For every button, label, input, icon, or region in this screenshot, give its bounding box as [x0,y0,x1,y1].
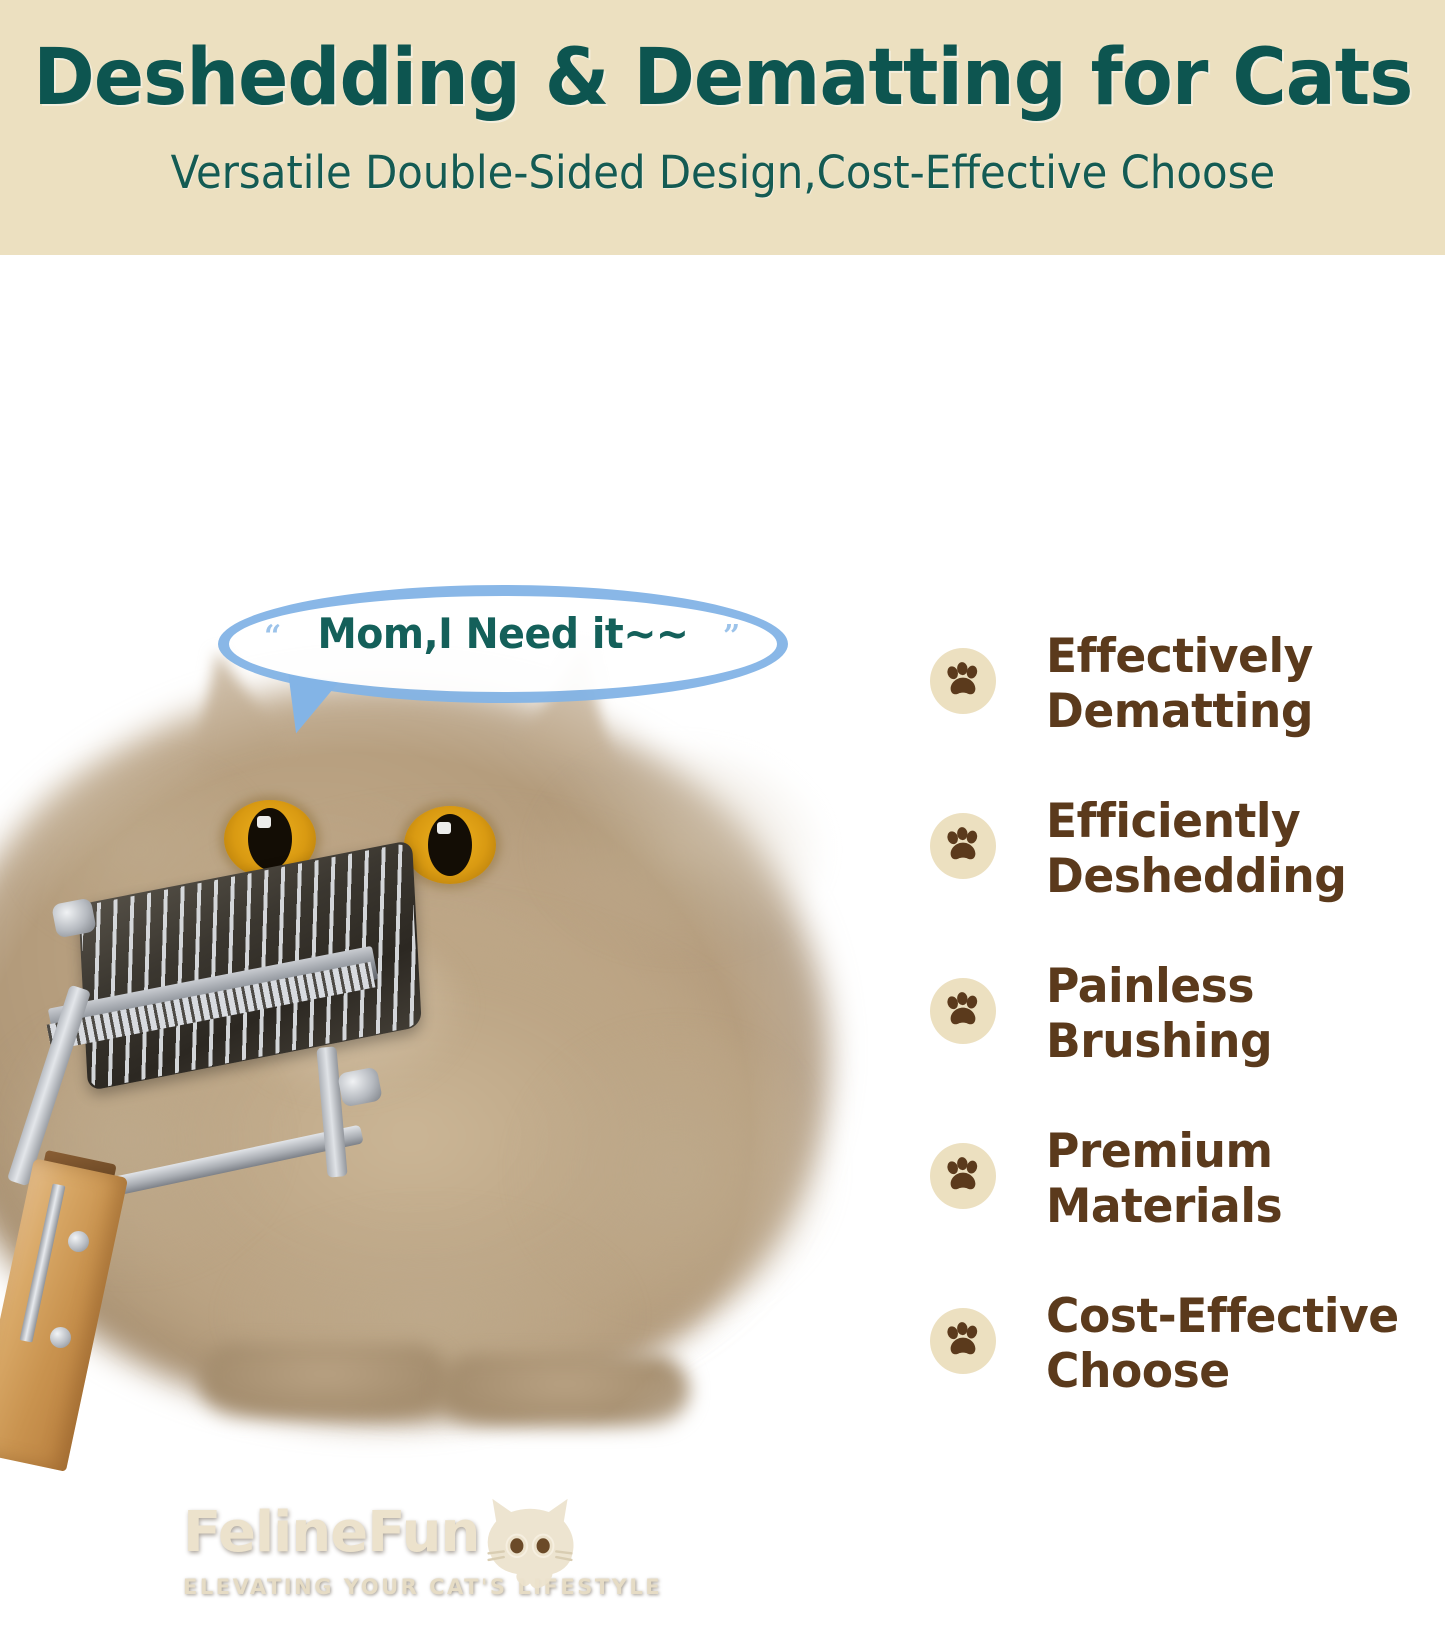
comb-pivot-knob-bottom [337,1066,383,1107]
feature-item-premium-materials: Premium Materials [930,1125,1430,1237]
feature-label: Painless Brushing [1046,960,1272,1069]
feature-item-deshedding: Efficiently Deshedding [930,795,1430,907]
speech-bubble-text: Mom,I Need it~~ [235,609,771,658]
fur-wisp [530,740,830,960]
feature-item-painless-brushing: Painless Brushing [930,960,1430,1072]
feature-badge [930,978,996,1044]
paw-print-icon [941,989,985,1033]
paw-print-icon [941,659,985,703]
feature-label: Premium Materials [1046,1125,1282,1234]
feature-label-line1: Premium [1046,1125,1282,1180]
quote-close-icon: ” [723,619,740,654]
comb-wooden-handle [0,1158,128,1471]
feature-list: Effectively Dematting Efficiently Deshed… [930,630,1430,1455]
feature-item-cost-effective: Cost-Effective Choose [930,1290,1430,1402]
speech-bubble: “ Mom,I Need it~~ ” [218,585,788,745]
feature-label: Cost-Effective Choose [1046,1290,1399,1399]
feature-badge [930,1308,996,1374]
feature-label-line2: Brushing [1046,1015,1272,1070]
feature-label-line1: Efficiently [1046,795,1346,850]
feature-label: Efficiently Deshedding [1046,795,1346,904]
header-banner: Deshedding & Dematting for Cats Versatil… [0,0,1445,255]
paw-print-icon [941,1154,985,1198]
feature-label: Effectively Dematting [1046,630,1313,739]
feature-label-line1: Effectively [1046,630,1313,685]
page-subtitle: Versatile Double-Sided Design,Cost-Effec… [170,146,1275,199]
handle-rivet [50,1327,71,1348]
eye-glint [257,816,271,828]
feature-label-line2: Materials [1046,1180,1282,1235]
feature-label-line2: Deshedding [1046,850,1346,905]
paw-print-icon [941,824,985,868]
grooming-comb-product-image [10,865,440,1445]
cat-head-icon [483,1493,577,1593]
handle-rivet [68,1231,89,1252]
brand-logo: FelineFun ELEVATING YOUR CAT'S LIFESTYLE [183,1505,603,1650]
feature-badge [930,1143,996,1209]
eye-glint [437,822,451,834]
paw-print-icon [941,1319,985,1363]
main-content-area: “ Mom,I Need it~~ ” FelineFun ELEVATING … [0,255,1445,1445]
feature-badge [930,648,996,714]
feature-label-line2: Choose [1046,1345,1399,1400]
cat-front-paw-right [440,1355,690,1427]
feature-label-line2: Dematting [1046,685,1313,740]
feature-item-dematting: Effectively Dematting [930,630,1430,742]
feature-badge [930,813,996,879]
page-title: Deshedding & Dematting for Cats [33,38,1412,120]
feature-label-line1: Painless [1046,960,1272,1015]
feature-label-line1: Cost-Effective [1046,1290,1399,1345]
comb-frame-right-arm [316,1046,347,1177]
